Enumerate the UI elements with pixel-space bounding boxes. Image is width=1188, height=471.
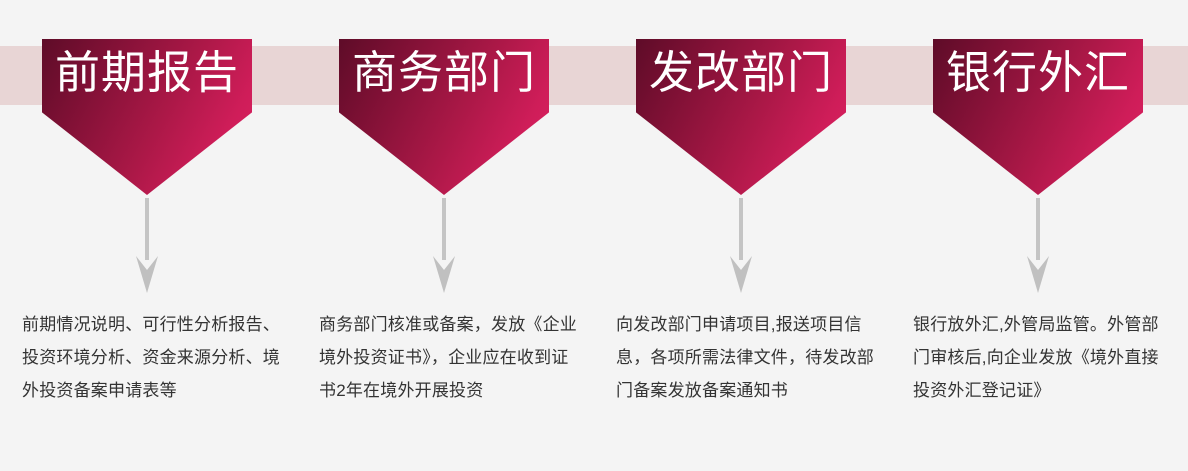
- step-title-1: 前期报告: [55, 50, 239, 95]
- step-description-4: 银行放外汇,外管局监管。外管部门审核后,向企业发放《境外直接投资外汇登记证》: [913, 308, 1171, 407]
- step-banner-4[interactable]: 银行外汇: [933, 39, 1143, 195]
- step-title-2: 商务部门: [352, 50, 536, 95]
- step-banner-1[interactable]: 前期报告: [42, 39, 252, 195]
- flow-step-4: 银行外汇 银行放外汇,外管局监管。外管部门审核后,向企业发放《境外直接投资外汇登…: [891, 0, 1188, 471]
- down-arrow-icon: [729, 198, 753, 293]
- down-arrow-icon: [432, 198, 456, 293]
- step-description-3: 向发改部门申请项目,报送项目信息，各项所需法律文件，待发改部门备案发放备案通知书: [616, 308, 882, 407]
- step-description-1: 前期情况说明、可行性分析报告、投资环境分析、资金来源分析、境外投资备案申请表等: [22, 308, 288, 407]
- step-banner-2[interactable]: 商务部门: [339, 39, 549, 195]
- down-arrow-icon: [135, 198, 159, 293]
- flow-step-1: 前期报告 前期情况说明、可行性分析报告、投资环境分析、资金来源分析、境外投资备案…: [0, 0, 297, 471]
- step-banner-3[interactable]: 发改部门: [636, 39, 846, 195]
- flow-step-2: 商务部门 商务部门核准或备案，发放《企业境外投资证书》，企业应在收到证书2年在境…: [297, 0, 594, 471]
- flow-step-3: 发改部门 向发改部门申请项目,报送项目信息，各项所需法律文件，待发改部门备案发放…: [594, 0, 891, 471]
- down-arrow-icon: [1026, 198, 1050, 293]
- step-description-2: 商务部门核准或备案，发放《企业境外投资证书》，企业应在收到证书2年在境外开展投资: [319, 308, 585, 407]
- flow-diagram: 前期报告 前期情况说明、可行性分析报告、投资环境分析、资金来源分析、境外投资备案…: [0, 0, 1188, 471]
- step-title-4: 银行外汇: [946, 50, 1130, 95]
- step-title-3: 发改部门: [649, 50, 833, 95]
